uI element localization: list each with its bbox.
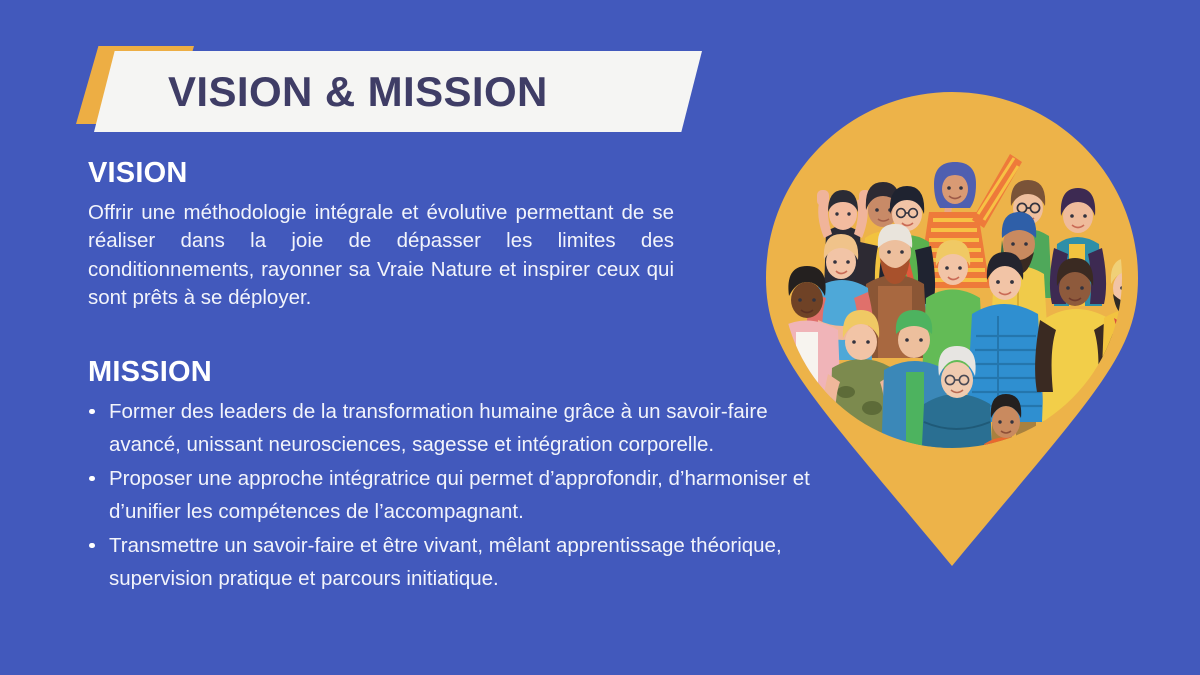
slide-vision-mission: VISION & MISSION VISION Offrir une métho… [0, 0, 1200, 675]
list-item: Former des leaders de la transformation … [88, 395, 814, 462]
page-title: VISION & MISSION [168, 71, 548, 113]
list-item: Proposer une approche intégratrice qui p… [88, 462, 814, 529]
bullet-icon [89, 543, 95, 549]
mission-bullet-list: Former des leaders de la transformation … [88, 395, 814, 596]
bullet-icon [89, 476, 95, 482]
map-pin-illustration [766, 92, 1138, 566]
title-banner: VISION & MISSION [0, 0, 760, 160]
list-item-text: Proposer une approche intégratrice qui p… [109, 467, 810, 524]
mission-heading-wrapper: MISSION [88, 357, 814, 389]
list-item-text: Transmettre un savoir-faire et être viva… [109, 534, 782, 591]
vision-heading: VISION [88, 158, 814, 190]
banner-plate: VISION & MISSION [94, 51, 702, 132]
content-column: VISION Offrir une méthodologie intégrale… [88, 158, 814, 596]
list-item: Transmettre un savoir-faire et être viva… [88, 529, 814, 596]
list-item-text: Former des leaders de la transformation … [109, 400, 768, 457]
vision-paragraph: Offrir une méthodologie intégrale et évo… [88, 199, 674, 313]
person-far-right-pink [1110, 385, 1138, 512]
bullet-icon [89, 409, 95, 415]
mission-heading: MISSION [88, 357, 814, 389]
